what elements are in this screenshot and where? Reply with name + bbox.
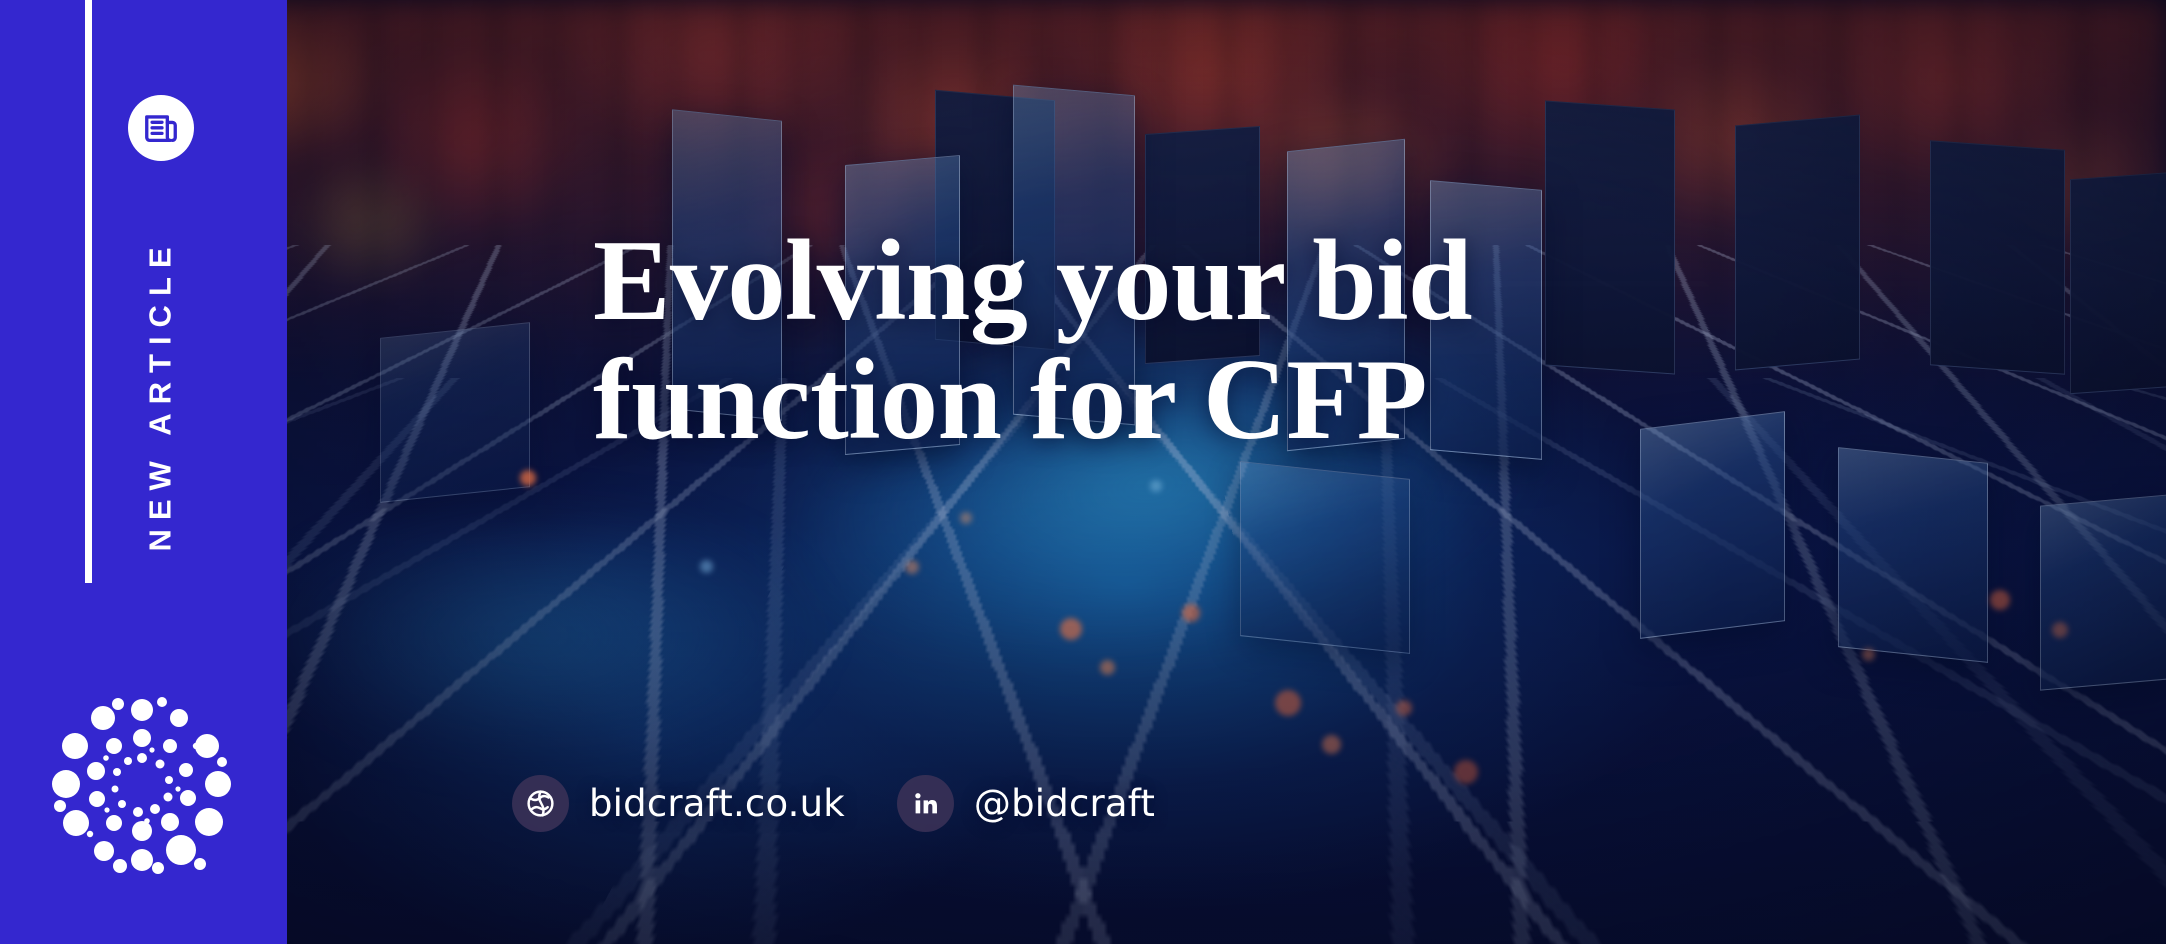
headline-line-2: function for CFP bbox=[593, 336, 1427, 464]
article-banner: NEW ARTICLE bbox=[0, 0, 2166, 944]
website-label: bidcraft.co.uk bbox=[589, 782, 845, 825]
brand-badge bbox=[128, 95, 194, 161]
meta-bar: bidcraft.co.uk @bidcraft bbox=[512, 775, 1155, 832]
linkedin-icon bbox=[897, 775, 954, 832]
website-link[interactable]: bidcraft.co.uk bbox=[512, 775, 845, 832]
page-title: Evolving your bid function for CFP bbox=[593, 222, 1713, 461]
kicker-badge: NEW ARTICLE bbox=[128, 215, 194, 575]
linkedin-link[interactable]: @bidcraft bbox=[897, 775, 1155, 832]
left-sidebar: NEW ARTICLE bbox=[0, 0, 287, 944]
linkedin-label: @bidcraft bbox=[974, 782, 1155, 825]
newspaper-icon bbox=[142, 109, 180, 147]
globe-icon bbox=[512, 775, 569, 832]
radial-dots-logo bbox=[52, 694, 232, 874]
headline-line-1: Evolving your bid bbox=[593, 217, 1472, 345]
vertical-rule bbox=[85, 0, 92, 583]
kicker-label: NEW ARTICLE bbox=[143, 238, 179, 551]
